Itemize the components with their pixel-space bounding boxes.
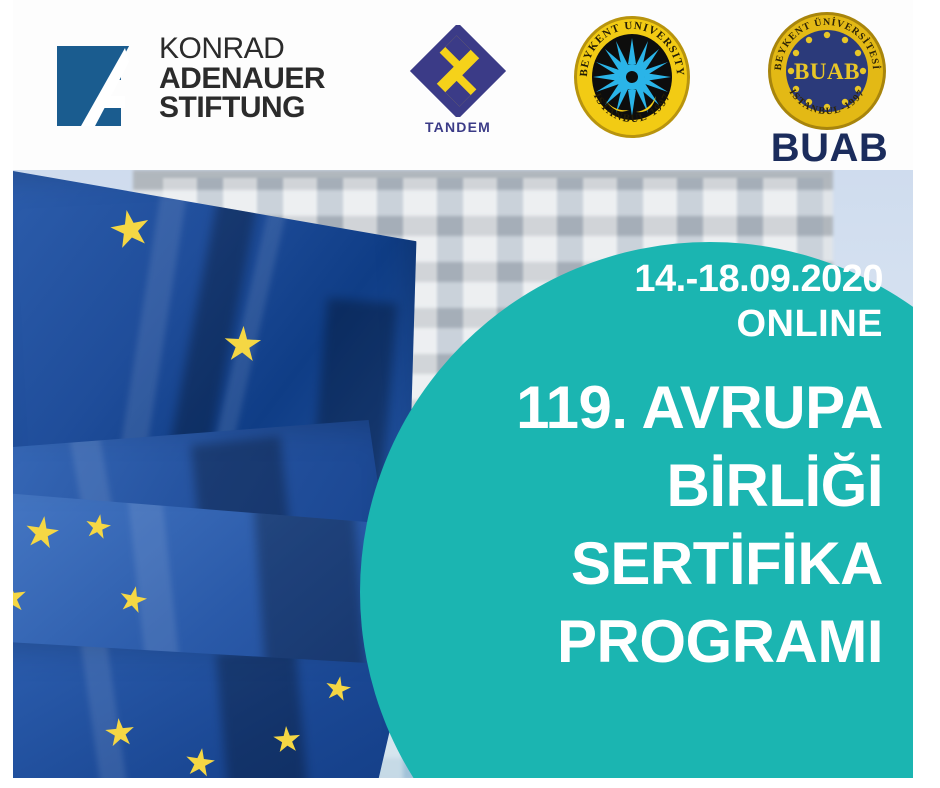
event-mode: ONLINE — [413, 300, 883, 349]
title-line-4: PROGRAMI — [413, 603, 883, 681]
left-margin — [0, 0, 13, 788]
tandem-wordmark: TANDEM — [403, 119, 513, 135]
poster-canvas: KONRAD ADENAUER STIFTUNG TANDEM — [0, 0, 940, 788]
kas-line-2: ADENAUER — [159, 64, 359, 94]
svg-text:BUAB: BUAB — [794, 59, 860, 84]
beykent-seal-icon: BEYKENT UNIVERSITY ISTANBUL-1997 — [571, 14, 693, 140]
title-line-3: SERTİFİKA — [413, 525, 883, 603]
right-margin — [913, 0, 940, 788]
logo-konrad-adenauer-stiftung: KONRAD ADENAUER STIFTUNG — [55, 38, 355, 136]
kas-line-3: STIFTUNG — [159, 93, 359, 123]
buab-wordmark: BUAB — [757, 128, 902, 168]
hero-photo: 14.-18.09.2020 ONLINE 119. AVRUPA BİRLİĞ… — [13, 170, 913, 778]
konrad-adenauer-mark-icon — [55, 40, 143, 132]
event-date: 14.-18.09.2020 — [413, 260, 883, 300]
kas-line-1: KONRAD — [159, 34, 359, 64]
logo-beykent-university: BEYKENT UNIVERSITY ISTANBUL-1997 — [571, 14, 693, 140]
headline-block: 14.-18.09.2020 ONLINE 119. AVRUPA BİRLİĞ… — [413, 260, 883, 681]
konrad-adenauer-wordmark: KONRAD ADENAUER STIFTUNG — [159, 34, 359, 123]
bottom-margin — [0, 778, 940, 788]
logo-tandem: TANDEM — [403, 25, 513, 140]
title-line-2: BİRLİĞİ — [413, 447, 883, 525]
buab-seal-icon: BUAB BEYKENT ÜNİVERSİTESİ ISTANBUL-1997 — [766, 10, 888, 132]
logo-bar: KONRAD ADENAUER STIFTUNG TANDEM — [0, 0, 940, 170]
tandem-diamond-icon — [406, 25, 510, 117]
title-line-1: 119. AVRUPA — [413, 369, 883, 447]
event-title: 119. AVRUPA BİRLİĞİ SERTİFİKA PROGRAMI — [413, 369, 883, 681]
logo-buab: BUAB BEYKENT ÜNİVERSİTESİ ISTANBUL-1997 … — [762, 10, 892, 170]
